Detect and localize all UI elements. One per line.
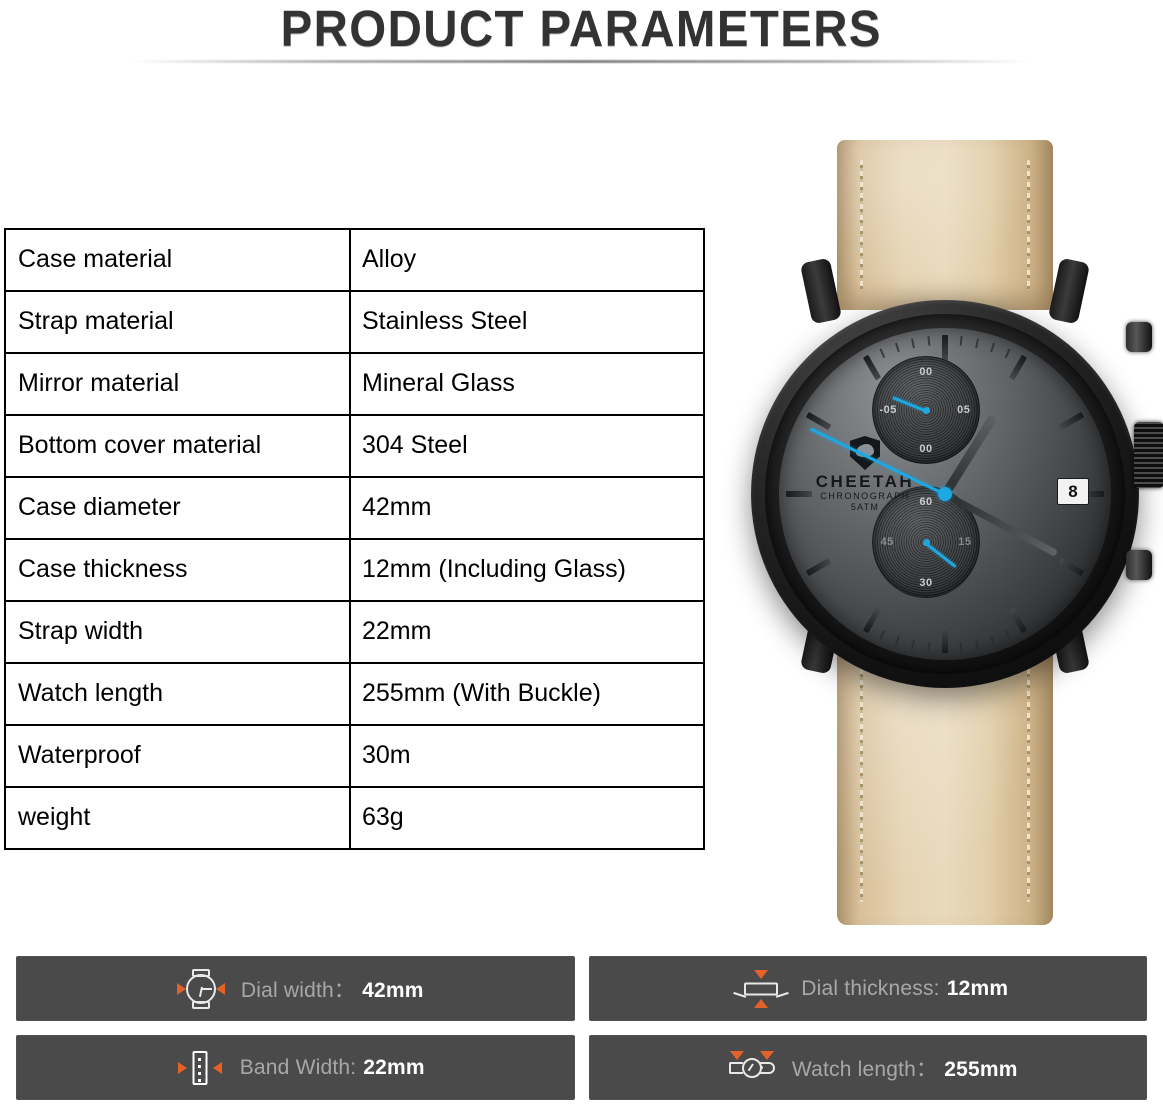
card-label: Band Width: [240,1056,357,1079]
table-row: Case diameter 42mm [5,477,704,539]
subdial-hand [892,397,926,413]
spec-value: 12mm (Including Glass) [350,539,704,601]
watch-case-side-shape [744,982,778,995]
table-row: Waterproof 30m [5,725,704,787]
brand-subtitle: CHRONOGRAPH [809,490,921,502]
spec-value: 22mm [350,601,704,663]
dial-thickness-icon [727,966,795,1012]
watch-strap-top [837,140,1053,310]
spec-key: Waterproof [5,725,350,787]
strap-left-shape [729,1062,743,1074]
minute-index [895,342,900,352]
watch-length-icon [718,1045,786,1091]
spec-key: Case material [5,229,350,291]
card-text: Dial width：42mm [241,974,424,1004]
subdial-label: 45 [880,536,893,548]
hour-index [863,608,881,634]
subdial-label: 30 [919,577,932,589]
card-label: Dial thickness: [801,977,939,1000]
card-text: Watch length：255mm [792,1053,1018,1083]
spec-value: 30m [350,725,704,787]
subdial-label: 00 [919,366,932,378]
watch-dial: 00 -05 05 00 60 45 15 30 CH [779,328,1111,660]
minute-index [895,635,900,645]
minute-index [990,635,995,645]
band-width-icon [166,1045,234,1091]
spec-key: Strap material [5,291,350,353]
chronograph-pusher-bottom [1126,550,1152,580]
strap-stitching [1027,160,1030,289]
card-value: 255mm [944,1058,1017,1081]
card-label: Dial width： [241,979,355,1002]
table-body: Case material Alloy Strap material Stain… [5,229,704,849]
subdial-pin [923,407,930,414]
table-row: Strap width 22mm [5,601,704,663]
minute-index [960,642,963,652]
minute-index [1005,348,1011,358]
spec-value: 255mm (With Buckle) [350,663,704,725]
specifications-table: Case material Alloy Strap material Stain… [4,228,705,850]
subdial-hand [925,542,956,567]
spec-key: Case diameter [5,477,350,539]
hour-index [942,335,948,361]
hour-index [1009,355,1027,381]
hand-center-cap [938,487,952,501]
card-value: 22mm [363,1056,425,1079]
hour-index [1009,608,1027,634]
subdial-label: 15 [958,536,971,548]
hour-index [806,558,832,576]
hour-index [1059,558,1085,576]
table-row: Bottom cover material 304 Steel [5,415,704,477]
card-band-width: Band Width:22mm [16,1035,575,1100]
minute-index [879,630,885,640]
table-row: Case thickness 12mm (Including Glass) [5,539,704,601]
arrow-right-pointing-icon [178,1062,187,1074]
minute-index [879,348,885,358]
strap-stitching [860,658,863,902]
card-dial-thickness: Dial thickness:12mm [589,956,1148,1021]
subdial-label: 05 [957,404,970,416]
minute-index [911,640,915,650]
arrow-down-left-icon [730,1051,744,1060]
strap-right-shape [759,1062,775,1074]
arrow-up-icon [754,999,768,1008]
measurement-cards: Dial width：42mm Dial thickness:12mm Band… [16,956,1147,1100]
minute-index [960,336,963,346]
card-value: 42mm [362,979,424,1002]
spec-key: Bottom cover material [5,415,350,477]
card-text: Band Width:22mm [240,1056,425,1080]
strap-stitching [860,160,863,289]
watch-band-bottom-shape [192,1001,210,1009]
hour-index [863,355,881,381]
watch-crown [1134,422,1163,488]
spec-value: 63g [350,787,704,849]
minute-index [975,640,979,650]
subdial-label: 00 [919,443,932,455]
minute-index [990,342,995,352]
spec-value: Stainless Steel [350,291,704,353]
card-watch-length: Watch length：255mm [589,1035,1148,1100]
page-title: PRODUCT PARAMETERS [281,0,882,58]
minute-index [1005,630,1011,640]
arrow-down-icon [754,970,768,979]
table-row: weight 63g [5,787,704,849]
hour-index [942,627,948,653]
dial-width-icon [167,966,235,1012]
spec-value: Mineral Glass [350,353,704,415]
watch-face-shape [186,974,216,1004]
minute-index [927,642,930,652]
water-resistance-label: 5ATM [809,502,921,513]
subdial-label: 60 [919,496,932,508]
spec-value: Alloy [350,229,704,291]
card-value: 12mm [947,977,1009,1000]
watch-case: 00 -05 05 00 60 45 15 30 CH [751,300,1139,688]
arrow-down-right-icon [760,1051,774,1060]
subdial-label: -05 [879,404,896,416]
chronograph-pusher-top [1126,322,1152,352]
spec-key: Watch length [5,663,350,725]
subdial-pin [923,539,930,546]
strap-stitching [1027,658,1030,902]
watch-bezel: 00 -05 05 00 60 45 15 30 CH [765,314,1125,674]
arrow-left-pointing-icon [213,1062,222,1074]
minute-index [911,338,915,348]
card-dial-width: Dial width：42mm [16,956,575,1021]
table-row: Watch length 255mm (With Buckle) [5,663,704,725]
minute-index [975,338,979,348]
card-text: Dial thickness:12mm [801,977,1008,1001]
watch-product-image: 00 -05 05 00 60 45 15 30 CH [730,110,1160,930]
date-window: 8 [1057,478,1089,505]
arrow-right-pointing-icon [177,983,186,995]
card-label: Watch length： [792,1058,937,1081]
strap-segment-shape [192,1051,207,1085]
spec-key: weight [5,787,350,849]
table-row: Case material Alloy [5,229,704,291]
title-divider [130,60,1030,63]
spec-key: Case thickness [5,539,350,601]
minute-index [927,336,930,346]
arrow-left-pointing-icon [216,983,225,995]
watch-lug [1048,258,1090,325]
watch-lug [800,258,842,325]
table-row: Strap material Stainless Steel [5,291,704,353]
hour-index [1059,412,1085,430]
spec-value: 304 Steel [350,415,704,477]
spec-key: Strap width [5,601,350,663]
spec-value: 42mm [350,477,704,539]
spec-key: Mirror material [5,353,350,415]
table-row: Mirror material Mineral Glass [5,353,704,415]
